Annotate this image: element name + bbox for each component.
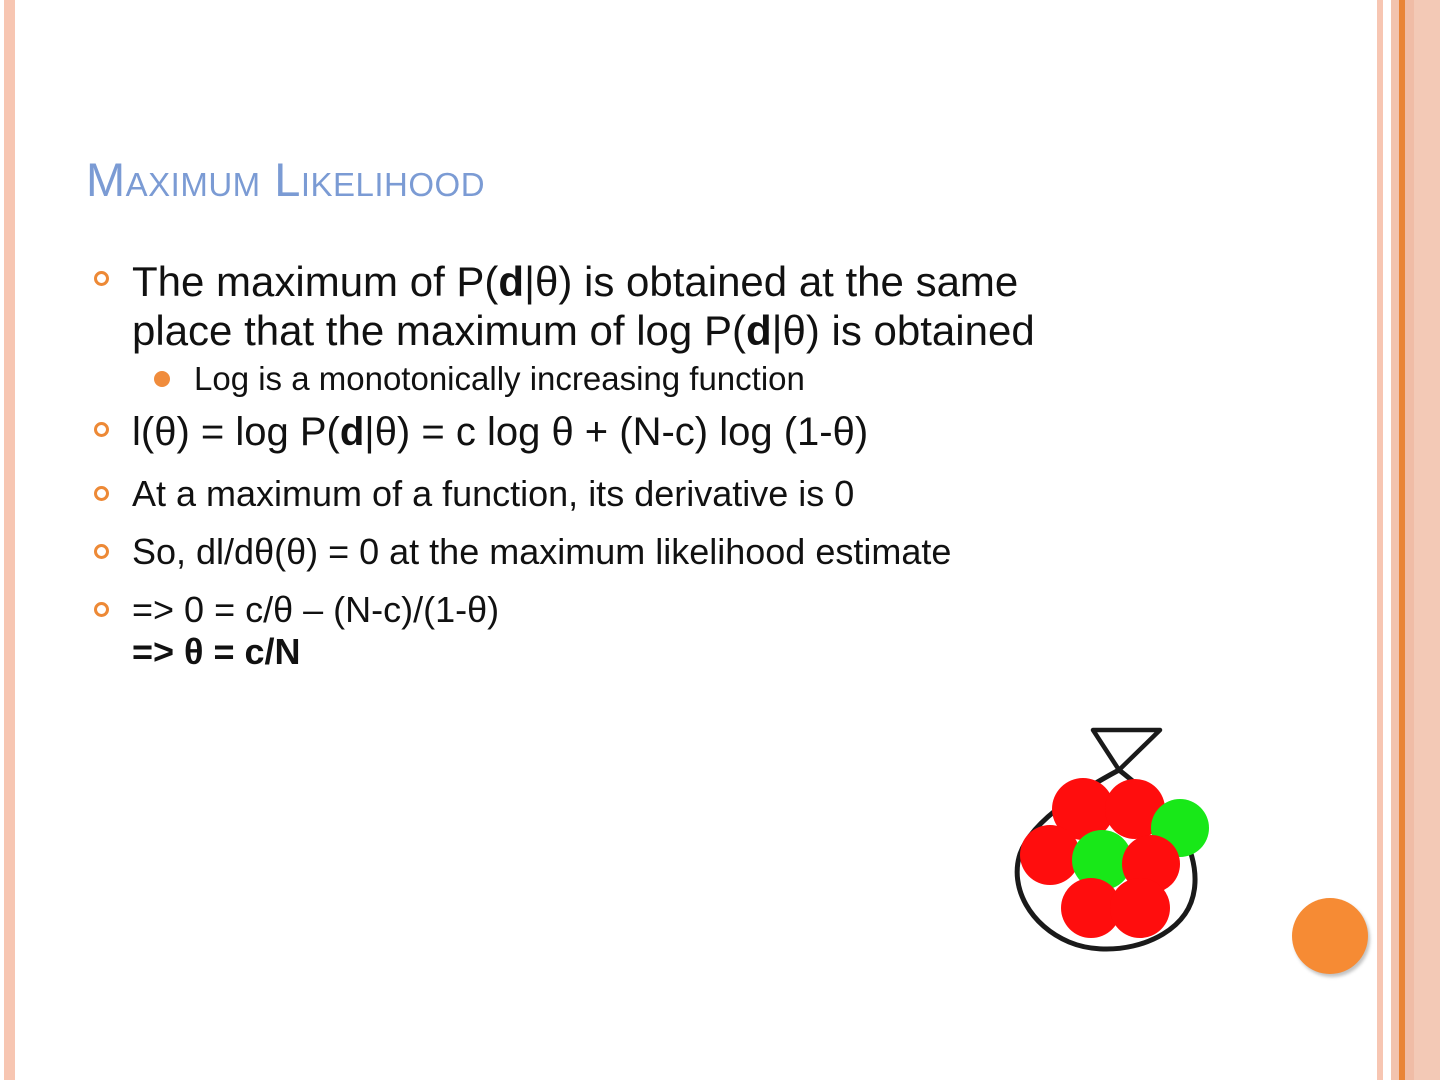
list-item: So, dl/dθ(θ) = 0 at the maximum likeliho… [86, 531, 1206, 573]
right-edge-accent-stripe [1399, 0, 1405, 1080]
ball-red [1110, 878, 1170, 938]
sub-list-item: Log is a monotonically increasing functi… [132, 359, 1206, 399]
bullet-text-part: place that the maximum of log P( [132, 307, 746, 354]
list-item-label: At a maximum of a function, its derivati… [132, 473, 854, 514]
ball-red [1020, 825, 1080, 885]
equation-part: l(θ) = log P( [132, 410, 340, 454]
list-item: l(θ) = log P(d|θ) = c log θ + (N-c) log … [86, 409, 1206, 455]
right-edge-soft-stripe-2 [1414, 0, 1440, 1080]
equation-line: l(θ) = log P(d|θ) = c log θ + (N-c) log … [132, 409, 1206, 455]
bag-svg [995, 712, 1225, 957]
list-item-label: So, dl/dθ(θ) = 0 at the maximum likeliho… [132, 531, 951, 572]
bullet-ring-icon [94, 486, 109, 501]
derivation-line-1: => 0 = c/θ – (N-c)/(1-θ) [132, 589, 1206, 631]
left-edge-stripe [4, 0, 15, 1080]
right-edge-soft-stripe-1 [1405, 0, 1414, 1080]
slide-canvas: Maximum Likelihood The maximum of P(d|θ)… [0, 0, 1440, 1080]
equation-bold-d: d [340, 410, 364, 454]
bag-of-balls-illustration [995, 712, 1225, 957]
bullet-text-block: The maximum of P(d|θ) is obtained at the… [132, 258, 1206, 355]
bullet-text-part: |θ) is obtained [772, 307, 1035, 354]
equation-part: |θ) = c log θ + (N-c) log (1-θ) [364, 410, 868, 454]
bullet-bold-d: d [498, 258, 524, 305]
bullet-ring-icon [94, 422, 109, 437]
decorative-orange-circle [1292, 898, 1368, 974]
right-edge-thin-stripe [1377, 0, 1383, 1080]
list-item: => 0 = c/θ – (N-c)/(1-θ) => θ = c/N [86, 589, 1206, 673]
bullet-dot-icon [154, 371, 170, 387]
bullet-ring-icon [94, 602, 109, 617]
spacer [86, 577, 1206, 589]
list-item: At a maximum of a function, its derivati… [86, 473, 1206, 515]
derivation-line-2: => θ = c/N [132, 631, 1206, 673]
bullet-ring-icon [94, 544, 109, 559]
derivation-block: => 0 = c/θ – (N-c)/(1-θ) => θ = c/N [132, 589, 1206, 673]
spacer [86, 519, 1206, 531]
list-item: The maximum of P(d|θ) is obtained at the… [86, 258, 1206, 355]
bullet-text-part: The maximum of P( [132, 258, 498, 305]
sub-list-item-label: Log is a monotonically increasing functi… [194, 360, 805, 397]
bullet-bold-d: d [746, 307, 772, 354]
bullet-list: The maximum of P(d|θ) is obtained at the… [86, 258, 1206, 676]
bullet-text-part: |θ) is obtained at the same [524, 258, 1018, 305]
page-title: Maximum Likelihood [86, 152, 485, 207]
spacer [86, 459, 1206, 473]
bullet-ring-icon [94, 271, 109, 286]
bag-tie-icon [1093, 730, 1160, 770]
